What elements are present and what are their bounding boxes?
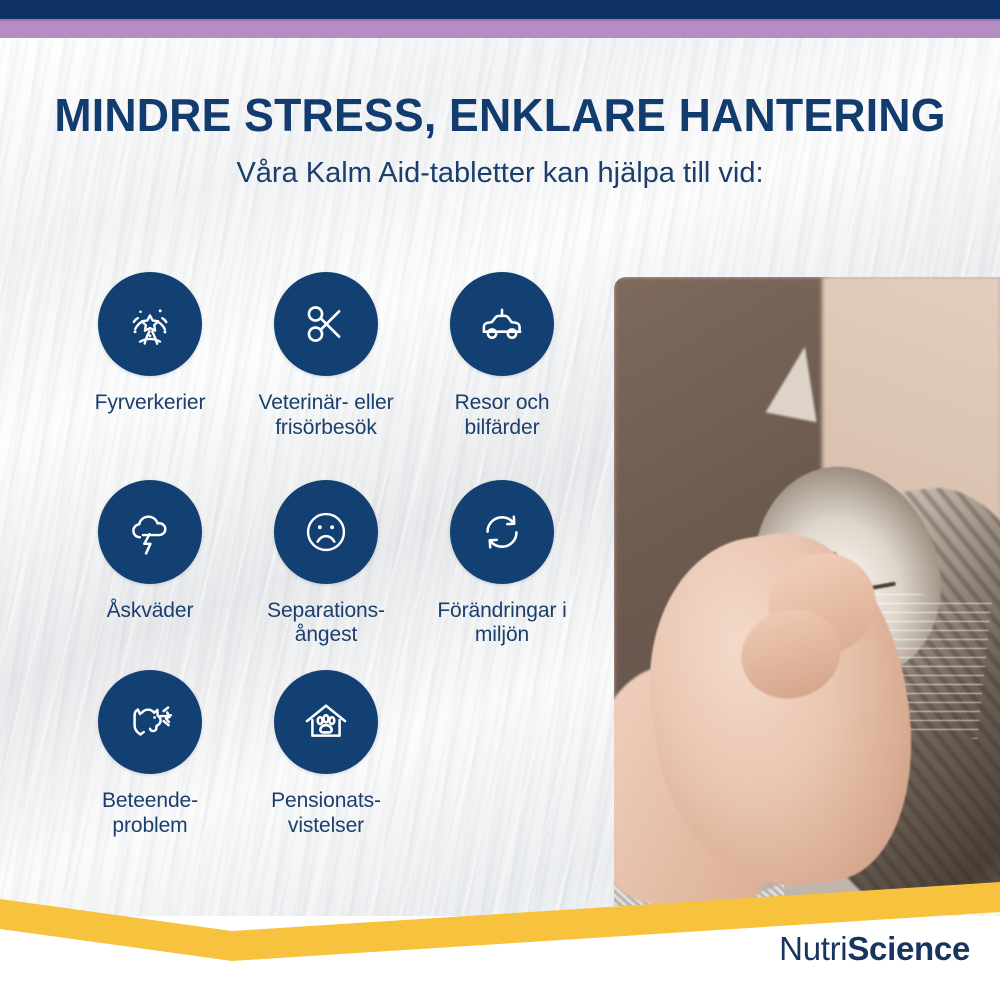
benefit-label-line: vistelser [288,814,364,837]
benefits-row-1: Fyrverkerier Veterinär- eller frisörbesö… [62,272,592,441]
benefit-label-line: frisörbesök [275,416,377,439]
benefit-item-veterinar: Veterinär- eller frisörbesök [238,272,414,441]
thunderstorm-icon [98,480,202,584]
benefits-row-3: Beteende- problem Pensionats- [62,670,592,839]
benefit-label: Åskväder [107,599,194,624]
benefit-label-line: Veterinär- eller [259,391,394,414]
benefit-label: Resor och bilfärder [455,391,550,441]
benefit-label: Fyrverkerier [95,391,206,416]
row-spacer [62,648,592,670]
cat-photo [614,277,1000,906]
benefit-label-line: Resor och [455,391,550,414]
benefit-label-line: Pensionats- [271,789,381,812]
fireworks-icon [98,272,202,376]
benefit-label-line: Beteende- [102,789,198,812]
benefit-item-pensionatsvistelser: Pensionats- vistelser [238,670,414,839]
benefit-label: Veterinär- eller frisörbesök [259,391,394,441]
row-spacer [62,441,592,480]
benefit-label: Beteende- problem [102,789,198,839]
benefit-item-askvader: Åskväder [62,480,238,649]
top-purple-bar [0,19,1000,40]
pet-house-icon [274,670,378,774]
benefit-label-line: problem [112,814,187,837]
car-icon [450,272,554,376]
logo-part-science: Science [847,930,970,967]
benefit-label-line: Åskväder [107,599,194,622]
benefit-label-line: Separations- [267,599,385,622]
sad-face-icon [274,480,378,584]
refresh-arrows-icon [450,480,554,584]
benefits-grid: Fyrverkerier Veterinär- eller frisörbesö… [62,272,592,839]
benefit-label: Förändringar i miljön [437,599,566,649]
benefit-label-line: miljön [475,623,529,646]
benefit-label-line: Förändringar i [437,599,566,622]
page-subtitle: Våra Kalm Aid-tabletter kan hjälpa till … [0,157,1000,190]
benefit-label: Separations- ångest [267,599,385,649]
benefit-item-forandringar: Förändringar i miljön [414,480,590,649]
brand-logo: NutriScience [779,930,970,968]
benefit-item-resor: Resor och bilfärder [414,272,590,441]
benefit-label-line: bilfärder [465,416,540,439]
logo-part-nutri: Nutri [779,930,847,967]
benefit-item-separationsangest: Separations- ångest [238,480,414,649]
scissors-icon [274,272,378,376]
top-navy-bar [0,0,1000,19]
benefits-row-2: Åskväder Separations- ångest [62,480,592,649]
page-title: MINDRE STRESS, ENKLARE HANTERING [15,88,985,142]
benefit-label-line: ångest [295,623,357,646]
benefit-item-empty [414,670,590,839]
benefit-label-line: Fyrverkerier [95,391,206,414]
promo-poster: MINDRE STRESS, ENKLARE HANTERING Våra Ka… [0,0,1000,1000]
benefit-item-fyrverkerier: Fyrverkerier [62,272,238,441]
benefit-label: Pensionats- vistelser [271,789,381,839]
benefit-item-beteendeproblem: Beteende- problem [62,670,238,839]
barking-dog-icon [98,670,202,774]
